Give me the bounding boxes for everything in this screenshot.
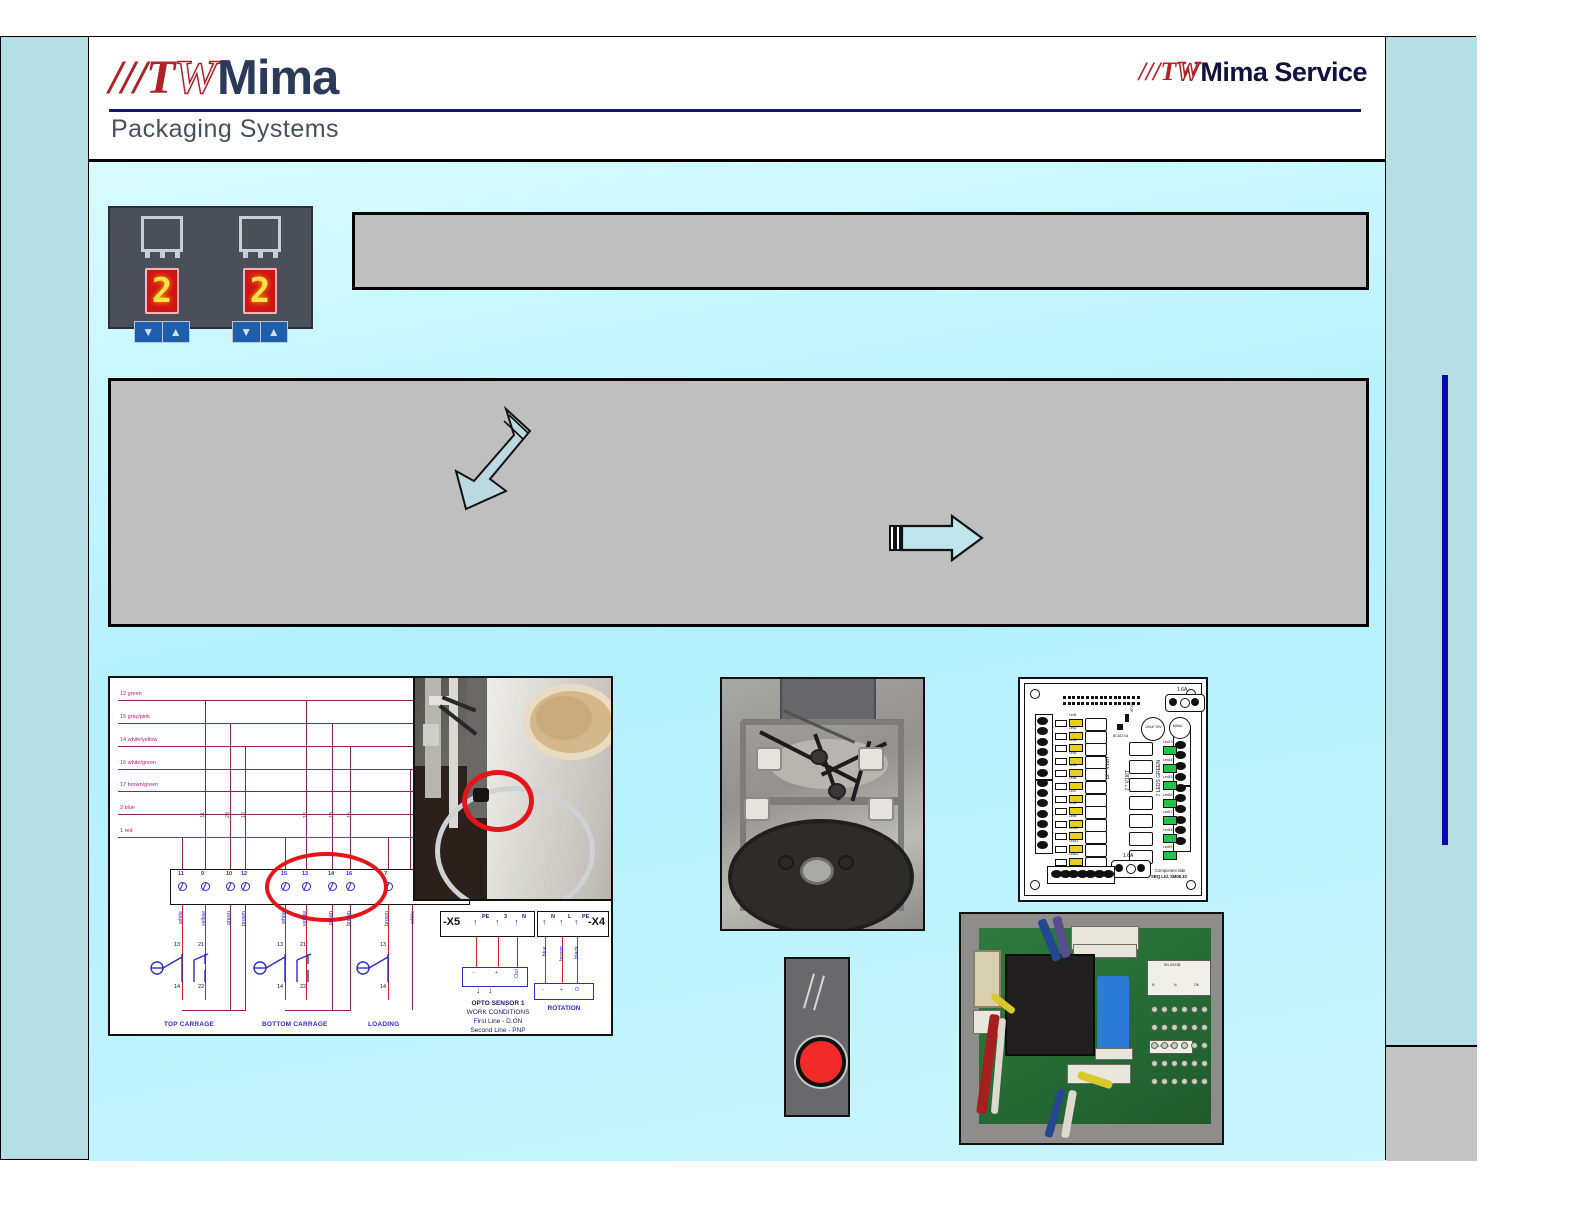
capacitor-label: 100uF 25V bbox=[1145, 725, 1162, 729]
via-hole bbox=[1181, 1060, 1188, 1067]
power-supply-board-photo: SN X0X38 N N OK 145.03.00-1 bbox=[959, 912, 1224, 1145]
wire-color-label: brown bbox=[559, 946, 565, 961]
wire-tag: 16 bbox=[303, 812, 309, 818]
switch-symbol bbox=[253, 952, 323, 986]
resistor bbox=[1055, 808, 1067, 815]
header-pin bbox=[1104, 696, 1107, 699]
header-pin bbox=[1100, 696, 1103, 699]
optocoupler bbox=[1085, 718, 1107, 731]
resistor-label: 4700R bbox=[1130, 702, 1134, 712]
via-hole bbox=[1201, 1006, 1208, 1013]
sensor-pin: - bbox=[473, 970, 475, 976]
main-body-box bbox=[108, 378, 1369, 627]
header-pin bbox=[1127, 696, 1130, 699]
wire-color-label: white bbox=[410, 911, 416, 924]
mima-wordmark: Mima bbox=[217, 55, 338, 101]
optocoupler bbox=[1085, 819, 1107, 832]
arrow-right-icon bbox=[886, 514, 986, 562]
header-pin bbox=[1137, 702, 1140, 705]
seven-segment-display-right: 2 bbox=[243, 268, 277, 314]
optocoupler bbox=[1129, 742, 1153, 756]
increment-button-right[interactable]: ▲ bbox=[261, 322, 288, 342]
led-label: Led2 bbox=[1069, 726, 1077, 730]
connector-pad bbox=[1037, 820, 1048, 828]
terminal-number: 11 bbox=[178, 871, 184, 877]
led-label: Led1 bbox=[1069, 713, 1077, 717]
optocoupler bbox=[1085, 743, 1107, 756]
optocoupler bbox=[1085, 806, 1107, 819]
via-hole bbox=[1161, 1006, 1168, 1013]
wire-tag: 12 bbox=[241, 812, 247, 818]
slide-frame: ///TW Mima Packaging Systems ///TW Mima … bbox=[0, 36, 1476, 1160]
right-panel-footer bbox=[1386, 1045, 1477, 1161]
top-caption-box bbox=[352, 212, 1369, 290]
header-pin bbox=[1086, 702, 1089, 705]
mid-column-label: 7 * V1I6T bbox=[1125, 770, 1131, 791]
sensor-pin: + bbox=[495, 970, 498, 976]
optocoupler bbox=[1129, 796, 1153, 810]
header-rule bbox=[109, 109, 1361, 112]
itw-logo-mark: ///TW bbox=[109, 55, 216, 101]
left-panel bbox=[1, 37, 89, 1159]
led-label: Led18 bbox=[1163, 828, 1172, 832]
header-pin bbox=[1100, 702, 1103, 705]
increment-button-left[interactable]: ▲ bbox=[163, 322, 190, 342]
transistor-label: BC817-04 bbox=[1113, 734, 1128, 738]
resistor bbox=[1055, 821, 1067, 828]
wire-color-label: green bbox=[328, 911, 334, 925]
resistor bbox=[1055, 846, 1067, 853]
header-pin bbox=[1081, 696, 1084, 699]
group-label: LOADING bbox=[368, 1021, 399, 1028]
green-led bbox=[1163, 851, 1177, 860]
wire-color-label: brown bbox=[384, 911, 390, 926]
wire-label: 17 brown/green bbox=[120, 782, 158, 788]
via-hole bbox=[1181, 1042, 1188, 1049]
terminal-number: 12 bbox=[241, 871, 247, 877]
via-hole bbox=[1151, 1078, 1158, 1085]
header-pin bbox=[1109, 696, 1112, 699]
sticker-col-1: N bbox=[1152, 983, 1155, 987]
arrow-down-left-icon bbox=[452, 405, 536, 515]
via-hole bbox=[1191, 1024, 1198, 1031]
optocoupler bbox=[1129, 760, 1153, 774]
header-pin bbox=[1063, 696, 1066, 699]
rotation-label: ROTATION bbox=[524, 1005, 604, 1012]
decrement-button-left[interactable]: ▼ bbox=[135, 322, 163, 342]
device-pin: - bbox=[542, 987, 544, 993]
header-pin bbox=[1091, 696, 1094, 699]
wire-label: 12 green bbox=[120, 691, 142, 697]
green-led bbox=[1163, 781, 1177, 790]
pin-label: N bbox=[522, 914, 526, 920]
header-pin bbox=[1091, 702, 1094, 705]
device-pin: + bbox=[560, 987, 563, 993]
header-pin bbox=[1095, 696, 1098, 699]
optocoupler bbox=[1085, 781, 1107, 794]
pcb-footer-line1: Component side bbox=[1155, 868, 1186, 873]
via-hole bbox=[1171, 1078, 1178, 1085]
resistor bbox=[1055, 796, 1067, 803]
via-hole bbox=[1161, 1024, 1168, 1031]
header-pin bbox=[1072, 702, 1075, 705]
connector-pad bbox=[1037, 738, 1048, 746]
led-label: Led16 bbox=[1163, 793, 1172, 797]
decrement-button-right[interactable]: ▼ bbox=[233, 322, 261, 342]
film-roll-sensor-photo bbox=[413, 676, 613, 901]
relay-label: M5AU bbox=[1173, 724, 1182, 728]
red-indicator-lamp-photo bbox=[784, 957, 850, 1117]
wire-color-label: black bbox=[574, 946, 580, 959]
resistor bbox=[1055, 720, 1067, 727]
optocoupler bbox=[1085, 768, 1107, 781]
connector-pad bbox=[1037, 810, 1048, 818]
turntable-belt-drive-photo bbox=[720, 677, 925, 931]
led-label: Led14 bbox=[1163, 758, 1172, 762]
header-pin bbox=[1123, 702, 1126, 705]
pin-label: PE bbox=[482, 914, 489, 920]
page-header: ///TW Mima Packaging Systems ///TW Mima … bbox=[89, 37, 1385, 162]
contact-number: 21 bbox=[300, 942, 306, 948]
contact-number: 13 bbox=[277, 942, 283, 948]
header-pin bbox=[1114, 696, 1117, 699]
led-label: Led6 bbox=[1069, 776, 1077, 780]
wire-color-label: white bbox=[178, 911, 184, 924]
via-hole bbox=[1191, 1060, 1198, 1067]
right-panel[interactable] bbox=[1385, 37, 1477, 1159]
led-label: Led15 bbox=[1163, 775, 1172, 779]
right-column-label: 7 LEDS GREEN bbox=[1156, 760, 1162, 796]
sticker-col-2: N bbox=[1174, 983, 1177, 987]
switch-symbol bbox=[356, 952, 406, 986]
service-itw-mark: ///TW bbox=[1139, 59, 1200, 85]
via-hole bbox=[1201, 1024, 1208, 1031]
stepper-left[interactable]: ▼ ▲ bbox=[134, 321, 190, 343]
header-pin bbox=[1086, 696, 1089, 699]
green-led bbox=[1163, 834, 1177, 843]
header-pin bbox=[1081, 702, 1084, 705]
via-hole bbox=[1201, 1042, 1208, 1049]
led-label: Led17 bbox=[1163, 810, 1172, 814]
wire-color-label: brown bbox=[241, 911, 247, 926]
resistor bbox=[1055, 733, 1067, 740]
pcb-footer-line2: SBQ Ltd. SM08.10 bbox=[1151, 874, 1187, 879]
header-pin bbox=[1068, 696, 1071, 699]
sticker-serial: SN X0X38 bbox=[1164, 963, 1180, 967]
via-hole bbox=[1201, 1060, 1208, 1067]
yellow-led bbox=[1069, 858, 1083, 866]
via-hole bbox=[1151, 1006, 1158, 1013]
via-hole bbox=[1171, 1060, 1178, 1067]
via-hole bbox=[1181, 1078, 1188, 1085]
terminal-number: 9 bbox=[201, 871, 204, 877]
via-hole bbox=[1161, 1078, 1168, 1085]
led-label: Led3 bbox=[1069, 738, 1077, 742]
header-pin bbox=[1114, 702, 1117, 705]
via-hole bbox=[1201, 1078, 1208, 1085]
header-pin bbox=[1123, 696, 1126, 699]
optocoupler bbox=[1085, 731, 1107, 744]
led-label: Led8 bbox=[1069, 801, 1077, 805]
header-pin bbox=[1068, 702, 1071, 705]
via-hole bbox=[1171, 1006, 1178, 1013]
wire-tag: 11 bbox=[200, 812, 206, 818]
green-led bbox=[1163, 816, 1177, 825]
via-hole bbox=[1181, 1024, 1188, 1031]
via-hole bbox=[1191, 1042, 1198, 1049]
terminal-number: 10 bbox=[226, 871, 232, 877]
via-hole bbox=[1151, 1024, 1158, 1031]
pin-label: N bbox=[551, 914, 555, 920]
wire-label: 15 gray/pink bbox=[120, 714, 150, 720]
fuse-top-label: 1.6A bbox=[1177, 687, 1187, 693]
header-pin bbox=[1132, 696, 1135, 699]
header-pin bbox=[1072, 696, 1075, 699]
wire-tag: 13 bbox=[329, 812, 335, 818]
header-pin bbox=[1118, 702, 1121, 705]
led-label: Led10 bbox=[1069, 826, 1078, 830]
header-pin bbox=[1095, 702, 1098, 705]
connector-pad bbox=[1037, 769, 1048, 777]
optocoupler bbox=[1129, 778, 1153, 792]
red-circle-highlight bbox=[462, 770, 534, 832]
service-wordmark: Mima Service bbox=[1200, 59, 1367, 85]
panel-column-left: 2 ▼ ▲ bbox=[126, 216, 198, 343]
green-led bbox=[1163, 746, 1177, 755]
header-pin bbox=[1077, 696, 1080, 699]
resistor bbox=[1055, 745, 1067, 752]
seven-segment-display-left: 2 bbox=[145, 268, 179, 314]
pallet-icon bbox=[141, 216, 183, 252]
optocoupler bbox=[1129, 814, 1153, 828]
wire-label: 1 red bbox=[120, 828, 133, 834]
green-led bbox=[1163, 764, 1177, 773]
tagline: Packaging Systems bbox=[111, 115, 339, 144]
via-hole bbox=[1191, 1006, 1198, 1013]
optocoupler bbox=[1085, 831, 1107, 844]
left-column-label: 12 * V1I6T bbox=[1105, 756, 1111, 780]
led-label: Led19 bbox=[1163, 845, 1172, 849]
itw-mima-logo: ///TW Mima bbox=[109, 55, 338, 101]
wire-color-label: brown bbox=[346, 911, 352, 926]
sensor-pin: Out bbox=[514, 969, 520, 978]
led-label: Led9 bbox=[1069, 814, 1077, 818]
optocoupler bbox=[1129, 832, 1153, 846]
contact-number: 13 bbox=[174, 942, 180, 948]
connector-pad bbox=[1037, 841, 1048, 849]
connector-pad bbox=[1103, 870, 1114, 878]
resistor bbox=[1055, 859, 1067, 866]
via-hole bbox=[1191, 1078, 1198, 1085]
scrollbar-indicator[interactable] bbox=[1442, 375, 1448, 845]
wire-color-label: yellow bbox=[201, 911, 207, 926]
header-pin bbox=[1063, 702, 1066, 705]
led-board-component-side: Led1Led2Led3Led4Led5Led6Led7Led8Led9Led1… bbox=[1018, 677, 1208, 902]
green-led bbox=[1163, 799, 1177, 808]
led-label: Led5 bbox=[1069, 763, 1077, 767]
connector-pad bbox=[1037, 717, 1048, 725]
pin-label: PE bbox=[582, 914, 589, 920]
slide-body: 2 ▼ ▲ 2 ▼ ▲ bbox=[89, 162, 1385, 1161]
via-hole bbox=[1161, 1060, 1168, 1067]
red-lamp-icon bbox=[796, 1037, 846, 1087]
wire-label: 14 white/yellow bbox=[120, 737, 157, 743]
carriage-count-panel: 2 ▼ ▲ 2 ▼ ▲ bbox=[108, 206, 313, 329]
header-pin bbox=[1137, 696, 1140, 699]
panel-column-right: 2 ▼ ▲ bbox=[224, 216, 296, 343]
connector-x4-label: -X4 bbox=[588, 916, 605, 928]
wire-color-label: green bbox=[226, 911, 232, 925]
via-hole bbox=[1171, 1024, 1178, 1031]
header-pin bbox=[1077, 702, 1080, 705]
resistor bbox=[1055, 783, 1067, 790]
led-label: Led13 bbox=[1163, 740, 1172, 744]
via-hole bbox=[1151, 1060, 1158, 1067]
resistor bbox=[1055, 770, 1067, 777]
resistor bbox=[1055, 758, 1067, 765]
led-label: Led7 bbox=[1069, 789, 1077, 793]
optocoupler bbox=[1085, 794, 1107, 807]
sensor-caption-line3: First Line - D.ON bbox=[448, 1018, 548, 1025]
stepper-right[interactable]: ▼ ▲ bbox=[232, 321, 288, 343]
optocoupler bbox=[1085, 844, 1107, 857]
group-label: TOP CARRAGE bbox=[164, 1021, 214, 1028]
via-hole bbox=[1151, 1042, 1158, 1049]
mima-service-logo: ///TW Mima Service bbox=[1139, 59, 1367, 85]
sticker-col-3: OK bbox=[1194, 983, 1199, 987]
contact-number: 21 bbox=[198, 942, 204, 948]
header-pin bbox=[1109, 702, 1112, 705]
wire-tag: 23 bbox=[225, 812, 231, 818]
connector-pad bbox=[1175, 773, 1186, 781]
resistor bbox=[1055, 833, 1067, 840]
board-sticker: SN X0X38 N N OK bbox=[1147, 960, 1211, 996]
led-label: Led11 bbox=[1069, 839, 1078, 843]
led-label: Led4 bbox=[1069, 751, 1077, 755]
device-pin: O bbox=[575, 987, 579, 993]
switch-symbol bbox=[150, 952, 220, 986]
via-hole bbox=[1181, 1006, 1188, 1013]
fuse-bottom-label: 1.6A bbox=[1123, 853, 1133, 859]
wire-tag: 15 bbox=[347, 812, 353, 818]
pin-label: L bbox=[568, 914, 571, 920]
via-hole bbox=[1171, 1042, 1178, 1049]
sensor-caption-line4: Second Line - PNP bbox=[448, 1027, 548, 1034]
pallet-icon bbox=[239, 216, 281, 252]
group-label: BOTTOM CARRAGE bbox=[262, 1021, 328, 1028]
led-label: Led12 bbox=[1069, 852, 1078, 856]
wire-color-label: yellow bbox=[302, 911, 308, 926]
via-hole bbox=[1161, 1042, 1168, 1049]
connector-pad bbox=[1037, 779, 1048, 787]
connector-x5-label: -X5 bbox=[443, 916, 460, 928]
header-pin bbox=[1104, 702, 1107, 705]
wire-color-label: white bbox=[281, 911, 287, 924]
pin-label: 3 bbox=[504, 914, 507, 920]
wire-label: 16 white/green bbox=[120, 760, 156, 766]
optocoupler bbox=[1085, 756, 1107, 769]
wire-label: 2 blue bbox=[120, 805, 135, 811]
wire-color-label: blue bbox=[542, 946, 548, 956]
header-pin bbox=[1118, 696, 1121, 699]
contact-number: 13 bbox=[380, 942, 386, 948]
connector-pad bbox=[1037, 748, 1048, 756]
